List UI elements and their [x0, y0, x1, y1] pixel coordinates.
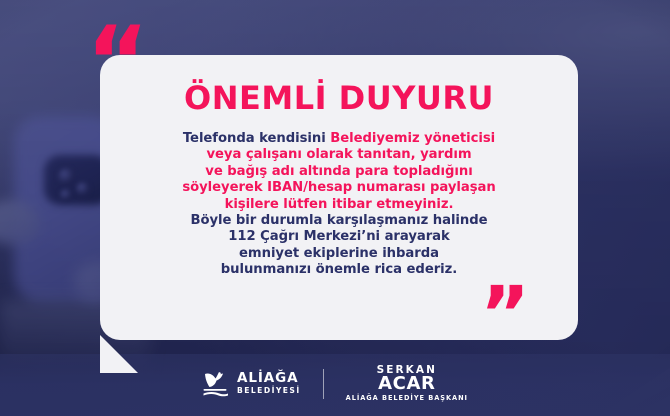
municipality-wordmark: ALİAĞA BELEDİYESİ [237, 372, 301, 397]
text-normal: bulunmanızı önemle rica ederiz. [221, 262, 457, 277]
announcement-line: Telefonda kendisini Belediyemiz yönetici… [122, 131, 556, 147]
announcement-body: Telefonda kendisini Belediyemiz yönetici… [122, 131, 556, 279]
announcement-graphic: “ ÖNEMLİ DUYURU Telefonda kendisini Bele… [0, 0, 670, 416]
municipality-logo: ALİAĞA BELEDİYESİ [202, 371, 323, 397]
text-emphasis: veya çalışanı olarak tanıtan, yardım [206, 147, 471, 162]
mayor-logo: SERKAN ACAR ALİAĞA BELEDİYE BAŞKANI [324, 365, 468, 403]
text-normal: Telefonda kendisini [183, 131, 330, 146]
announcement-line: emniyet ekiplerine ihbarda [122, 246, 556, 262]
text-emphasis: Belediyemiz yöneticisi [330, 131, 495, 146]
municipality-name: ALİAĞA [237, 372, 301, 385]
announcement-line: Böyle bir durumla karşılaşmanız halinde [122, 213, 556, 229]
closing-quote-icon: ” [480, 276, 529, 352]
mayor-last-name: ACAR [378, 375, 435, 393]
page-title: ÖNEMLİ DUYURU [122, 79, 556, 117]
municipality-subtitle: BELEDİYESİ [237, 386, 301, 396]
text-emphasis: ve bağış adı altında para topladığını [205, 164, 472, 179]
announcement-line: kişilere lütfen itibar etmeyiniz. [122, 197, 556, 213]
announcement-line: ve bağış adı altında para topladığını [122, 164, 556, 180]
text-emphasis: kişilere lütfen itibar etmeyiniz. [225, 197, 454, 212]
announcement-line: söyleyerek IBAN/hesap numarası paylaşan [122, 180, 556, 196]
text-normal: emniyet ekiplerine ihbarda [239, 246, 439, 261]
announcement-line: veya çalışanı olarak tanıtan, yardım [122, 147, 556, 163]
text-emphasis: söyleyerek IBAN/hesap numarası paylaşan [182, 180, 495, 195]
text-normal: 112 Çağrı Merkezi’ni arayarak [228, 229, 450, 244]
mayor-title: ALİAĞA BELEDİYE BAŞKANI [346, 394, 468, 403]
seagull-waves-icon [202, 371, 230, 397]
announcement-line: 112 Çağrı Merkezi’ni arayarak [122, 229, 556, 245]
footer-logos: ALİAĞA BELEDİYESİ SERKAN ACAR ALİAĞA BEL… [0, 362, 670, 406]
text-normal: Böyle bir durumla karşılaşmanız halinde [190, 213, 487, 228]
